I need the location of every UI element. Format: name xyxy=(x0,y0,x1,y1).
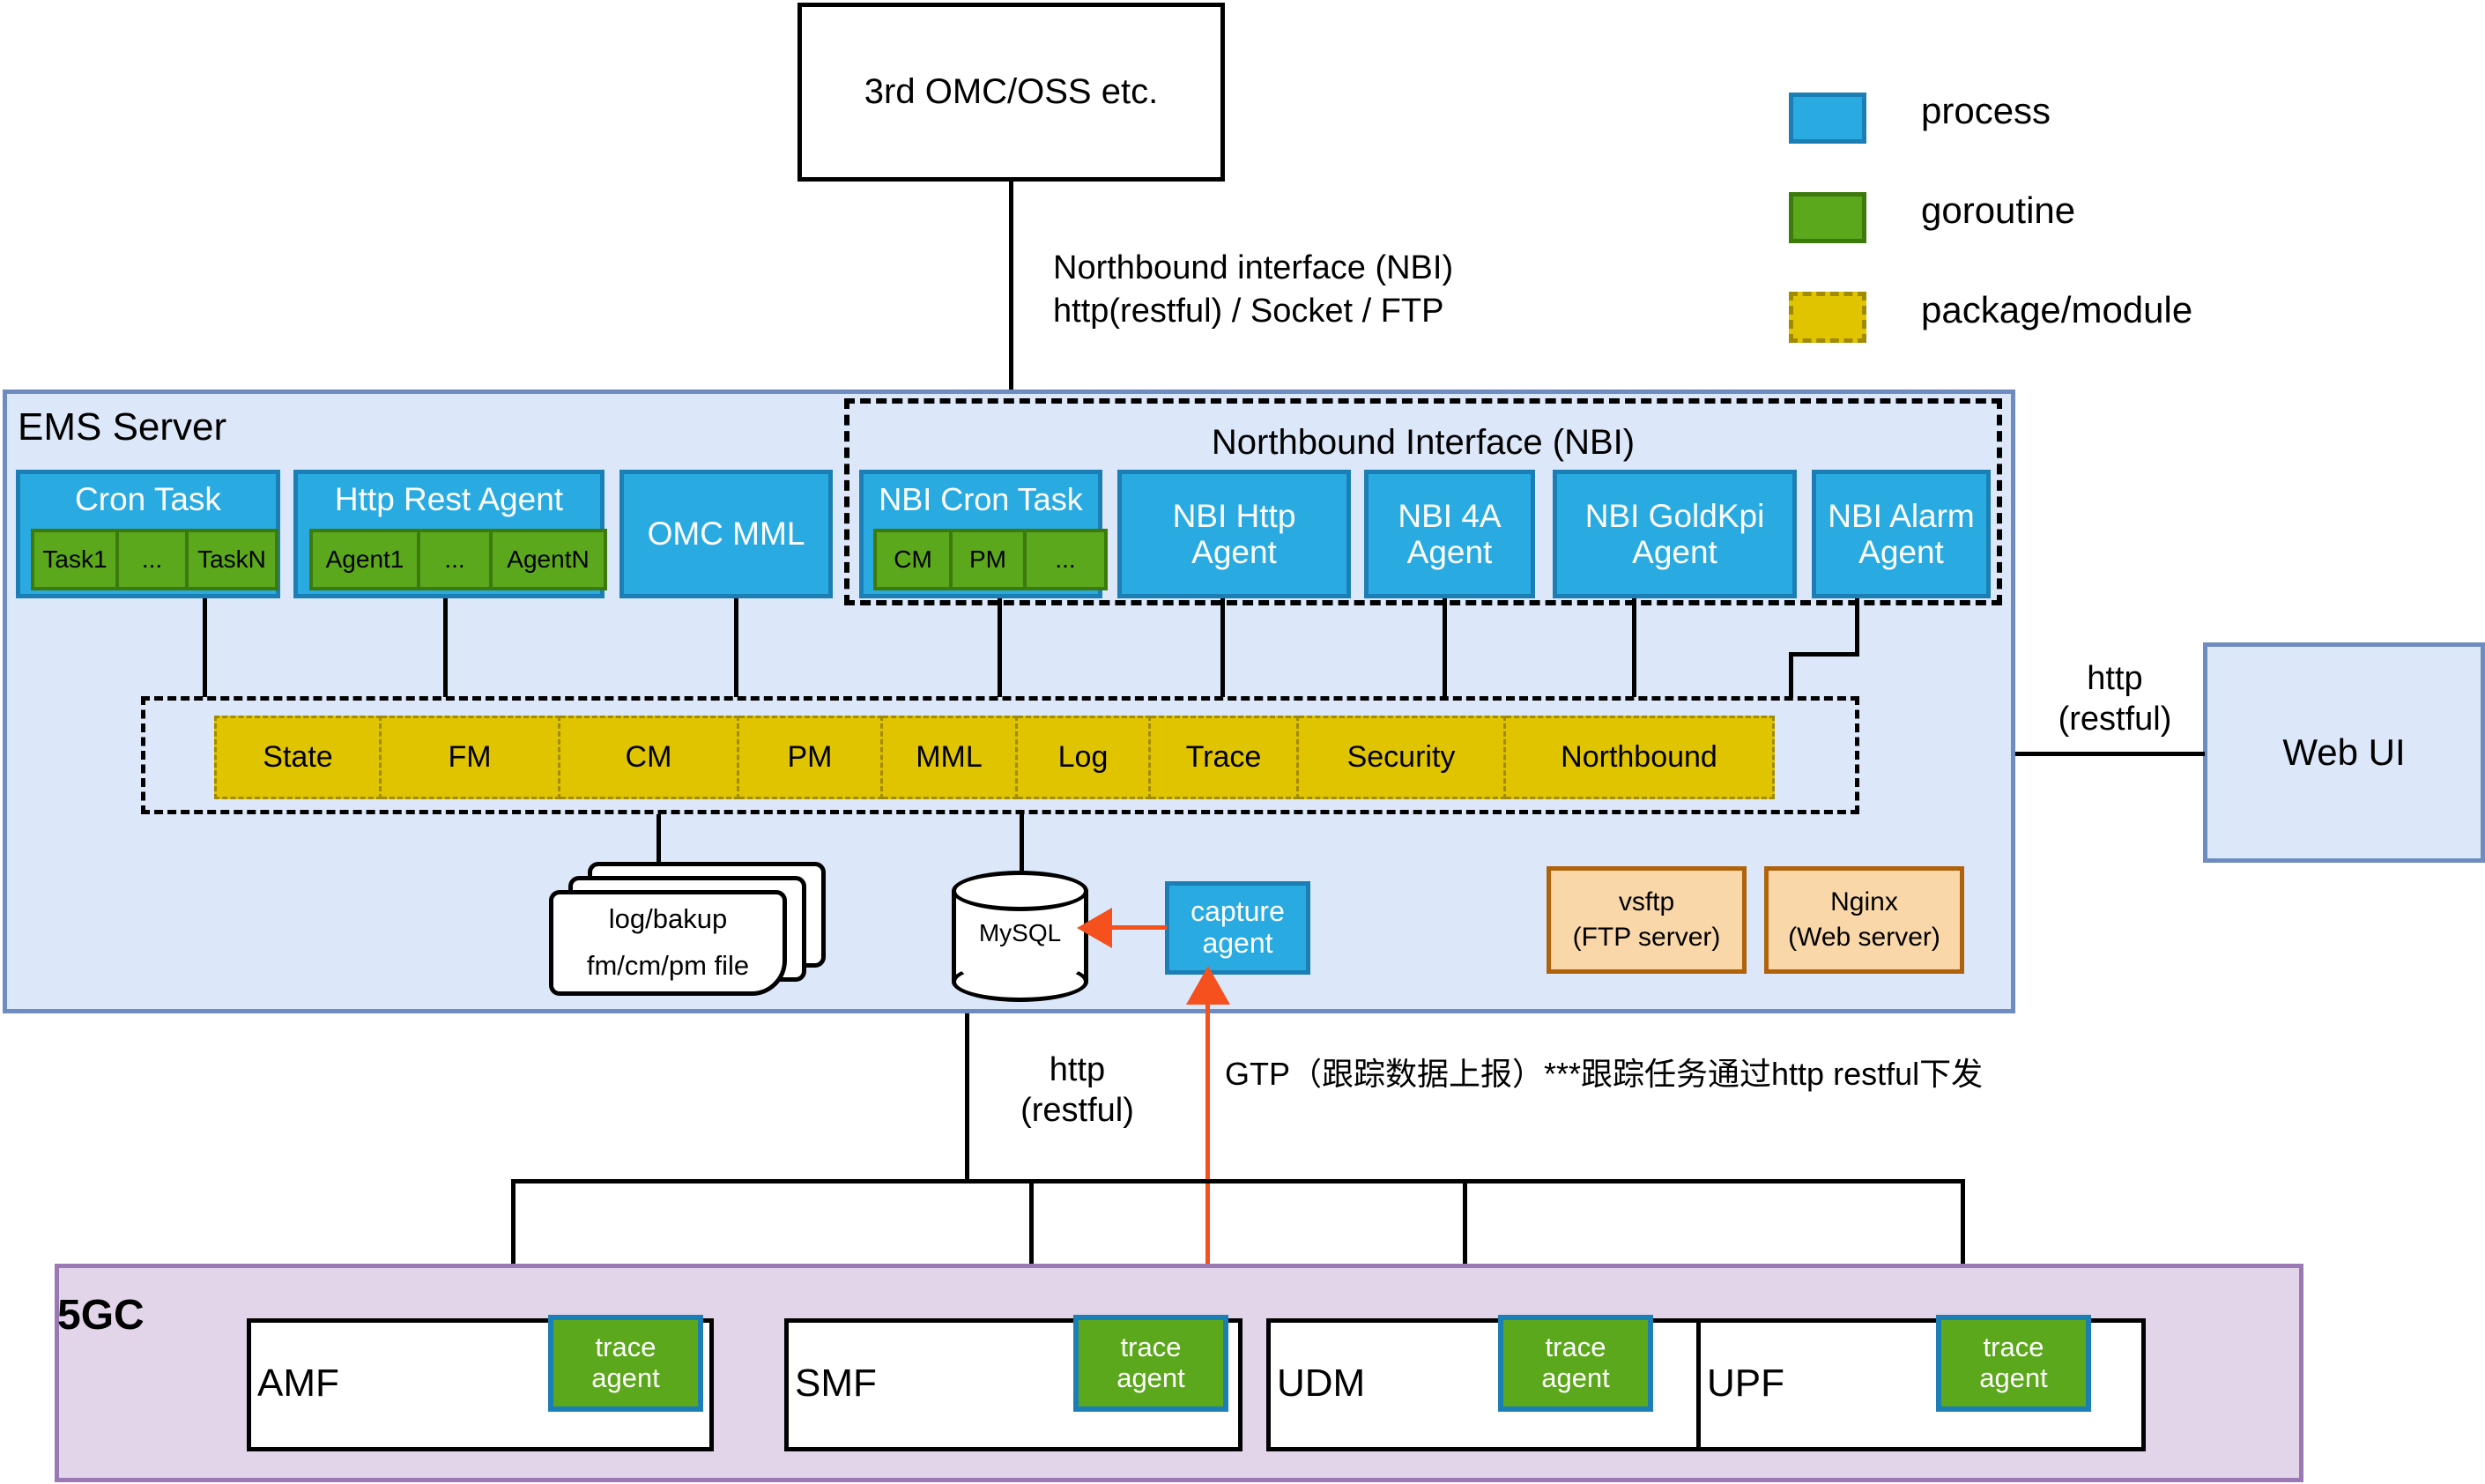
goroutine-nbi-ellipsis: ... xyxy=(1027,529,1108,590)
nbi-group-title: Northbound Interface (NBI) xyxy=(844,423,2002,462)
omc-mml-to-modules-connector xyxy=(734,598,738,697)
trace-agent-upf-line2: agent xyxy=(1979,1363,2048,1394)
trace-agent-amf[interactable]: trace agent xyxy=(548,1315,703,1412)
trace-agent-upf-line1: trace xyxy=(1984,1332,2044,1363)
nf-smf-label: SMF xyxy=(795,1362,877,1406)
trace-agent-upf[interactable]: trace agent xyxy=(1936,1315,2091,1412)
module-bar: State FM CM PM MML Log Trace Security No… xyxy=(214,716,1775,794)
diagram-canvas: 3rd OMC/OSS etc. Northbound interface (N… xyxy=(0,0,2485,1484)
goroutine-taskn[interactable]: TaskN xyxy=(189,529,278,590)
http-restful-label: http (restful) xyxy=(983,1042,1172,1139)
process-nbi-alarm-agent-title-line1: NBI Alarm xyxy=(1828,498,1975,534)
capture-agent-to-mysql-arrow-line xyxy=(1103,925,1167,930)
process-nbi-http-agent[interactable]: NBI Http Agent xyxy=(1117,470,1351,598)
ems-to-5gc-http-trunk xyxy=(965,1013,969,1183)
trace-agent-smf-line2: agent xyxy=(1116,1363,1185,1394)
process-nbi-http-agent-title-line1: NBI Http xyxy=(1173,498,1296,534)
ems-to-webui-connector xyxy=(2015,752,2205,756)
http-rest-agent-to-modules-connector xyxy=(443,598,448,697)
web-ui-box[interactable]: Web UI xyxy=(2203,642,2485,863)
process-nbi-cron-task-title: NBI Cron Task xyxy=(864,474,1098,525)
process-nbi-4a-agent-title-line2: Agent xyxy=(1407,534,1493,570)
modules-to-mysql-connector xyxy=(1020,814,1024,871)
process-nbi-4a-agent[interactable]: NBI 4A Agent xyxy=(1364,470,1535,598)
process-nbi-alarm-agent[interactable]: NBI Alarm Agent xyxy=(1812,470,1991,598)
goroutine-task-ellipsis: ... xyxy=(119,529,189,590)
legend-label-package: package/module xyxy=(1921,289,2192,331)
cron-task-goroutines: Task1 ... TaskN xyxy=(31,529,278,590)
process-omc-mml-title: OMC MML xyxy=(648,516,805,552)
trace-agent-amf-line1: trace xyxy=(596,1332,656,1363)
file-stack: log/bakup fm/cm/pm file xyxy=(533,862,833,998)
trace-agent-udm[interactable]: trace agent xyxy=(1498,1315,1653,1412)
trace-agent-udm-line2: agent xyxy=(1541,1363,1610,1394)
nf-udm-label: UDM xyxy=(1277,1362,1365,1406)
web-ui-label: Web UI xyxy=(2282,731,2405,773)
process-nbi-alarm-agent-title-line2: Agent xyxy=(1858,534,1944,570)
file-stack-sheet-1: log/bakup fm/cm/pm file xyxy=(549,890,787,996)
module-security[interactable]: Security xyxy=(1299,716,1506,799)
nbi-alarm-agent-connector-seg3 xyxy=(1789,652,1793,698)
gc-title: 5GC xyxy=(57,1291,145,1339)
mysql-cylinder-top xyxy=(952,871,1088,911)
trace-agent-smf[interactable]: trace agent xyxy=(1073,1315,1228,1412)
legend-label-process: process xyxy=(1921,90,2051,132)
server-nginx[interactable]: Nginx (Web server) xyxy=(1764,866,1964,974)
trace-agent-smf-line1: trace xyxy=(1121,1332,1182,1363)
process-nbi-goldkpi-agent-title-line2: Agent xyxy=(1632,534,1717,570)
legend-swatch-goroutine xyxy=(1789,192,1866,243)
server-vsftp[interactable]: vsftp (FTP server) xyxy=(1547,866,1747,974)
mysql-cylinder-bottom xyxy=(952,961,1088,1002)
process-cron-task[interactable]: Cron Task Task1 ... TaskN xyxy=(16,470,280,598)
http-rest-agent-goroutines: Agent1 ... AgentN xyxy=(309,529,607,590)
nbi-4a-agent-to-modules-connector xyxy=(1443,598,1447,697)
process-nbi-goldkpi-agent[interactable]: NBI GoldKpi Agent xyxy=(1553,470,1797,598)
goroutine-nbi-cm[interactable]: CM xyxy=(873,529,953,590)
goroutine-agent1[interactable]: Agent1 xyxy=(309,529,420,590)
third-party-oss-label: 3rd OMC/OSS etc. xyxy=(864,72,1158,112)
web-ui-link-label-line1: http xyxy=(2087,658,2142,699)
trace-agent-udm-line1: trace xyxy=(1546,1332,1606,1363)
module-northbound[interactable]: Northbound xyxy=(1506,716,1775,799)
nbi-cron-task-to-modules-connector xyxy=(998,598,1002,697)
capture-agent-label-line1: capture xyxy=(1191,896,1285,928)
module-trace[interactable]: Trace xyxy=(1151,716,1299,799)
server-vsftp-role: (FTP server) xyxy=(1573,923,1721,953)
module-mml[interactable]: MML xyxy=(883,716,1018,799)
goroutine-nbi-pm[interactable]: PM xyxy=(953,529,1027,590)
gtp-to-capture-agent-arrowhead xyxy=(1186,966,1230,1005)
third-party-oss-box: 3rd OMC/OSS etc. xyxy=(797,3,1225,182)
goroutine-agent-ellipsis: ... xyxy=(420,529,493,590)
http-restful-label-line2: (restful) xyxy=(1020,1090,1134,1131)
nbi-cron-task-goroutines: CM PM ... xyxy=(873,529,1108,590)
capture-agent-label-line2: agent xyxy=(1202,928,1272,960)
module-cm[interactable]: CM xyxy=(560,716,739,799)
nbi-goldkpi-agent-to-modules-connector xyxy=(1632,598,1636,697)
server-nginx-role: (Web server) xyxy=(1788,923,1940,953)
legend-swatch-package xyxy=(1789,292,1866,343)
file-stack-label-line1: log/bakup xyxy=(609,904,727,935)
nf-upf-label: UPF xyxy=(1707,1362,1784,1406)
process-cron-task-title: Cron Task xyxy=(20,474,276,525)
capture-agent-to-mysql-arrowhead xyxy=(1077,908,1112,948)
gtp-note-label: GTP（跟踪数据上报）***跟踪任务通过http restful下发 xyxy=(1225,1049,2177,1094)
legend: process goroutine package/module xyxy=(1789,93,2335,344)
process-http-rest-agent-title: Http Rest Agent xyxy=(298,474,600,525)
process-nbi-goldkpi-agent-title-line1: NBI GoldKpi xyxy=(1585,498,1765,534)
process-omc-mml[interactable]: OMC MML xyxy=(619,470,833,598)
module-log[interactable]: Log xyxy=(1018,716,1151,799)
trace-agent-amf-line2: agent xyxy=(591,1363,660,1394)
mysql-database: MySQL xyxy=(952,871,1088,1001)
http-restful-label-line1: http xyxy=(1050,1050,1105,1090)
process-nbi-http-agent-title-line2: Agent xyxy=(1191,534,1277,570)
server-nginx-name: Nginx xyxy=(1830,887,1898,917)
process-capture-agent[interactable]: capture agent xyxy=(1165,881,1310,975)
nbi-alarm-agent-connector-seg2 xyxy=(1789,652,1859,657)
module-fm[interactable]: FM xyxy=(382,716,560,799)
server-vsftp-name: vsftp xyxy=(1619,887,1674,917)
process-http-rest-agent[interactable]: Http Rest Agent Agent1 ... AgentN xyxy=(293,470,605,598)
legend-swatch-process xyxy=(1789,93,1866,144)
legend-label-goroutine: goroutine xyxy=(1921,189,2075,232)
nbi-http-agent-to-modules-connector xyxy=(1220,598,1225,697)
http-bus-horizontal xyxy=(511,1179,1965,1183)
web-ui-link-label: http (restful) xyxy=(2027,648,2203,750)
file-stack-label-line2: fm/cm/pm file xyxy=(587,951,749,982)
nbi-link-label-line1: Northbound interface (NBI) xyxy=(1053,247,1758,290)
process-nbi-4a-agent-title-line1: NBI 4A xyxy=(1398,498,1501,534)
oss-to-ems-connector xyxy=(1009,182,1013,396)
goroutine-agentn[interactable]: AgentN xyxy=(493,529,607,590)
nbi-alarm-agent-connector-seg1 xyxy=(1855,598,1859,657)
ems-server-title: EMS Server xyxy=(18,405,226,449)
nf-amf-label: AMF xyxy=(257,1362,339,1406)
nbi-link-label-line2: http(restful) / Socket / FTP xyxy=(1053,290,1758,333)
module-pm[interactable]: PM xyxy=(739,716,883,799)
cron-task-to-modules-connector xyxy=(203,598,207,697)
mysql-label: MySQL xyxy=(952,913,1088,953)
goroutine-task1[interactable]: Task1 xyxy=(31,529,119,590)
gtp-note-text: GTP（跟踪数据上报）***跟踪任务通过http restful下发 xyxy=(1225,1056,1983,1092)
process-nbi-cron-task[interactable]: NBI Cron Task CM PM ... xyxy=(859,470,1102,598)
web-ui-link-label-line2: (restful) xyxy=(2058,699,2172,739)
module-state[interactable]: State xyxy=(214,716,382,799)
nbi-link-label: Northbound interface (NBI) http(restful)… xyxy=(1053,247,1758,334)
